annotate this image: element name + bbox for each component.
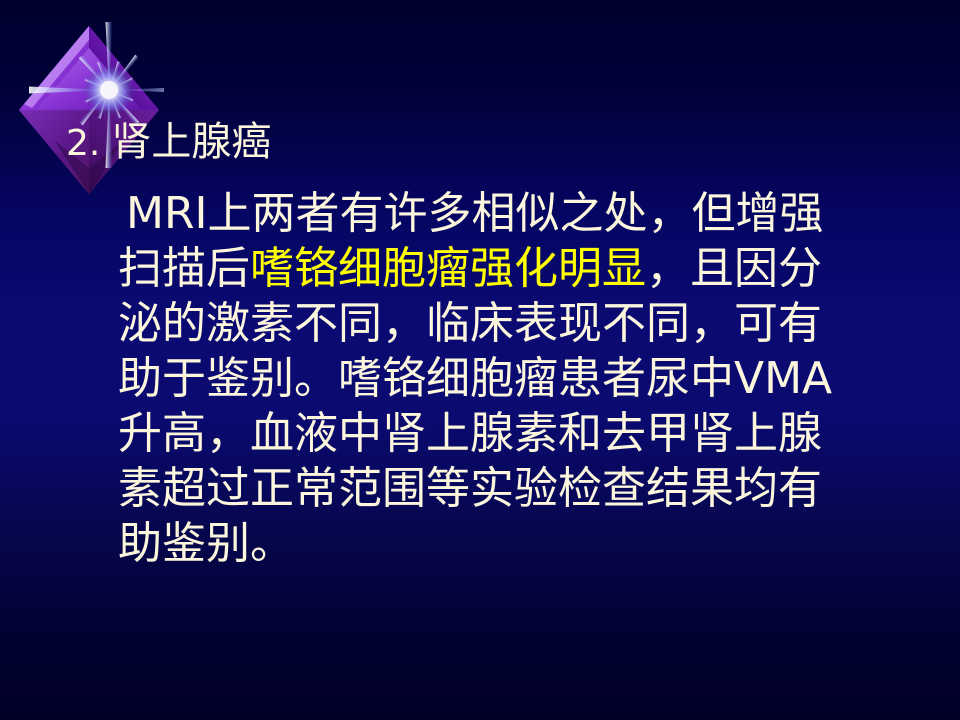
- highlighted-text: 嗜铬细胞瘤强化明显: [250, 243, 646, 294]
- body-text: 素超过正常范围等实验检查结果均有: [118, 463, 822, 514]
- body-line: 升高，血液中肾上腺素和去甲肾上腺: [118, 406, 918, 461]
- body-line: MRI上两者有许多相似之处，但增强: [118, 186, 918, 241]
- body-line: 素超过正常范围等实验检查结果均有: [118, 461, 918, 516]
- slide-body: MRI上两者有许多相似之处，但增强扫描后嗜铬细胞瘤强化明显，且因分泌的激素不同，…: [118, 186, 918, 571]
- slide-title: 2.肾上腺癌: [66, 119, 271, 167]
- body-line: 扫描后嗜铬细胞瘤强化明显，且因分: [118, 241, 918, 296]
- body-text: 升高，血液中肾上腺素和去甲肾上腺: [118, 408, 822, 459]
- body-text: 泌的激素不同，临床表现不同，可有: [118, 298, 822, 349]
- body-line: 助于鉴别。嗜铬细胞瘤患者尿中VMA: [118, 351, 918, 406]
- body-text: 助鉴别。: [118, 518, 294, 569]
- purple-diamond-starburst-icon: [14, 18, 164, 198]
- body-line: 助鉴别。: [118, 516, 918, 571]
- body-text: 助于鉴别。嗜铬细胞瘤患者尿中VMA: [118, 353, 832, 404]
- body-line: 泌的激素不同，临床表现不同，可有: [118, 296, 918, 351]
- body-text: ，且因分: [646, 243, 822, 294]
- title-number: 2.: [66, 123, 111, 164]
- title-text: 肾上腺癌: [111, 119, 271, 165]
- body-text: 扫描后: [118, 243, 250, 294]
- body-text: MRI上两者有许多相似之处，但增强: [126, 188, 824, 239]
- presentation-slide: 2.肾上腺癌 MRI上两者有许多相似之处，但增强扫描后嗜铬细胞瘤强化明显，且因分…: [0, 0, 960, 720]
